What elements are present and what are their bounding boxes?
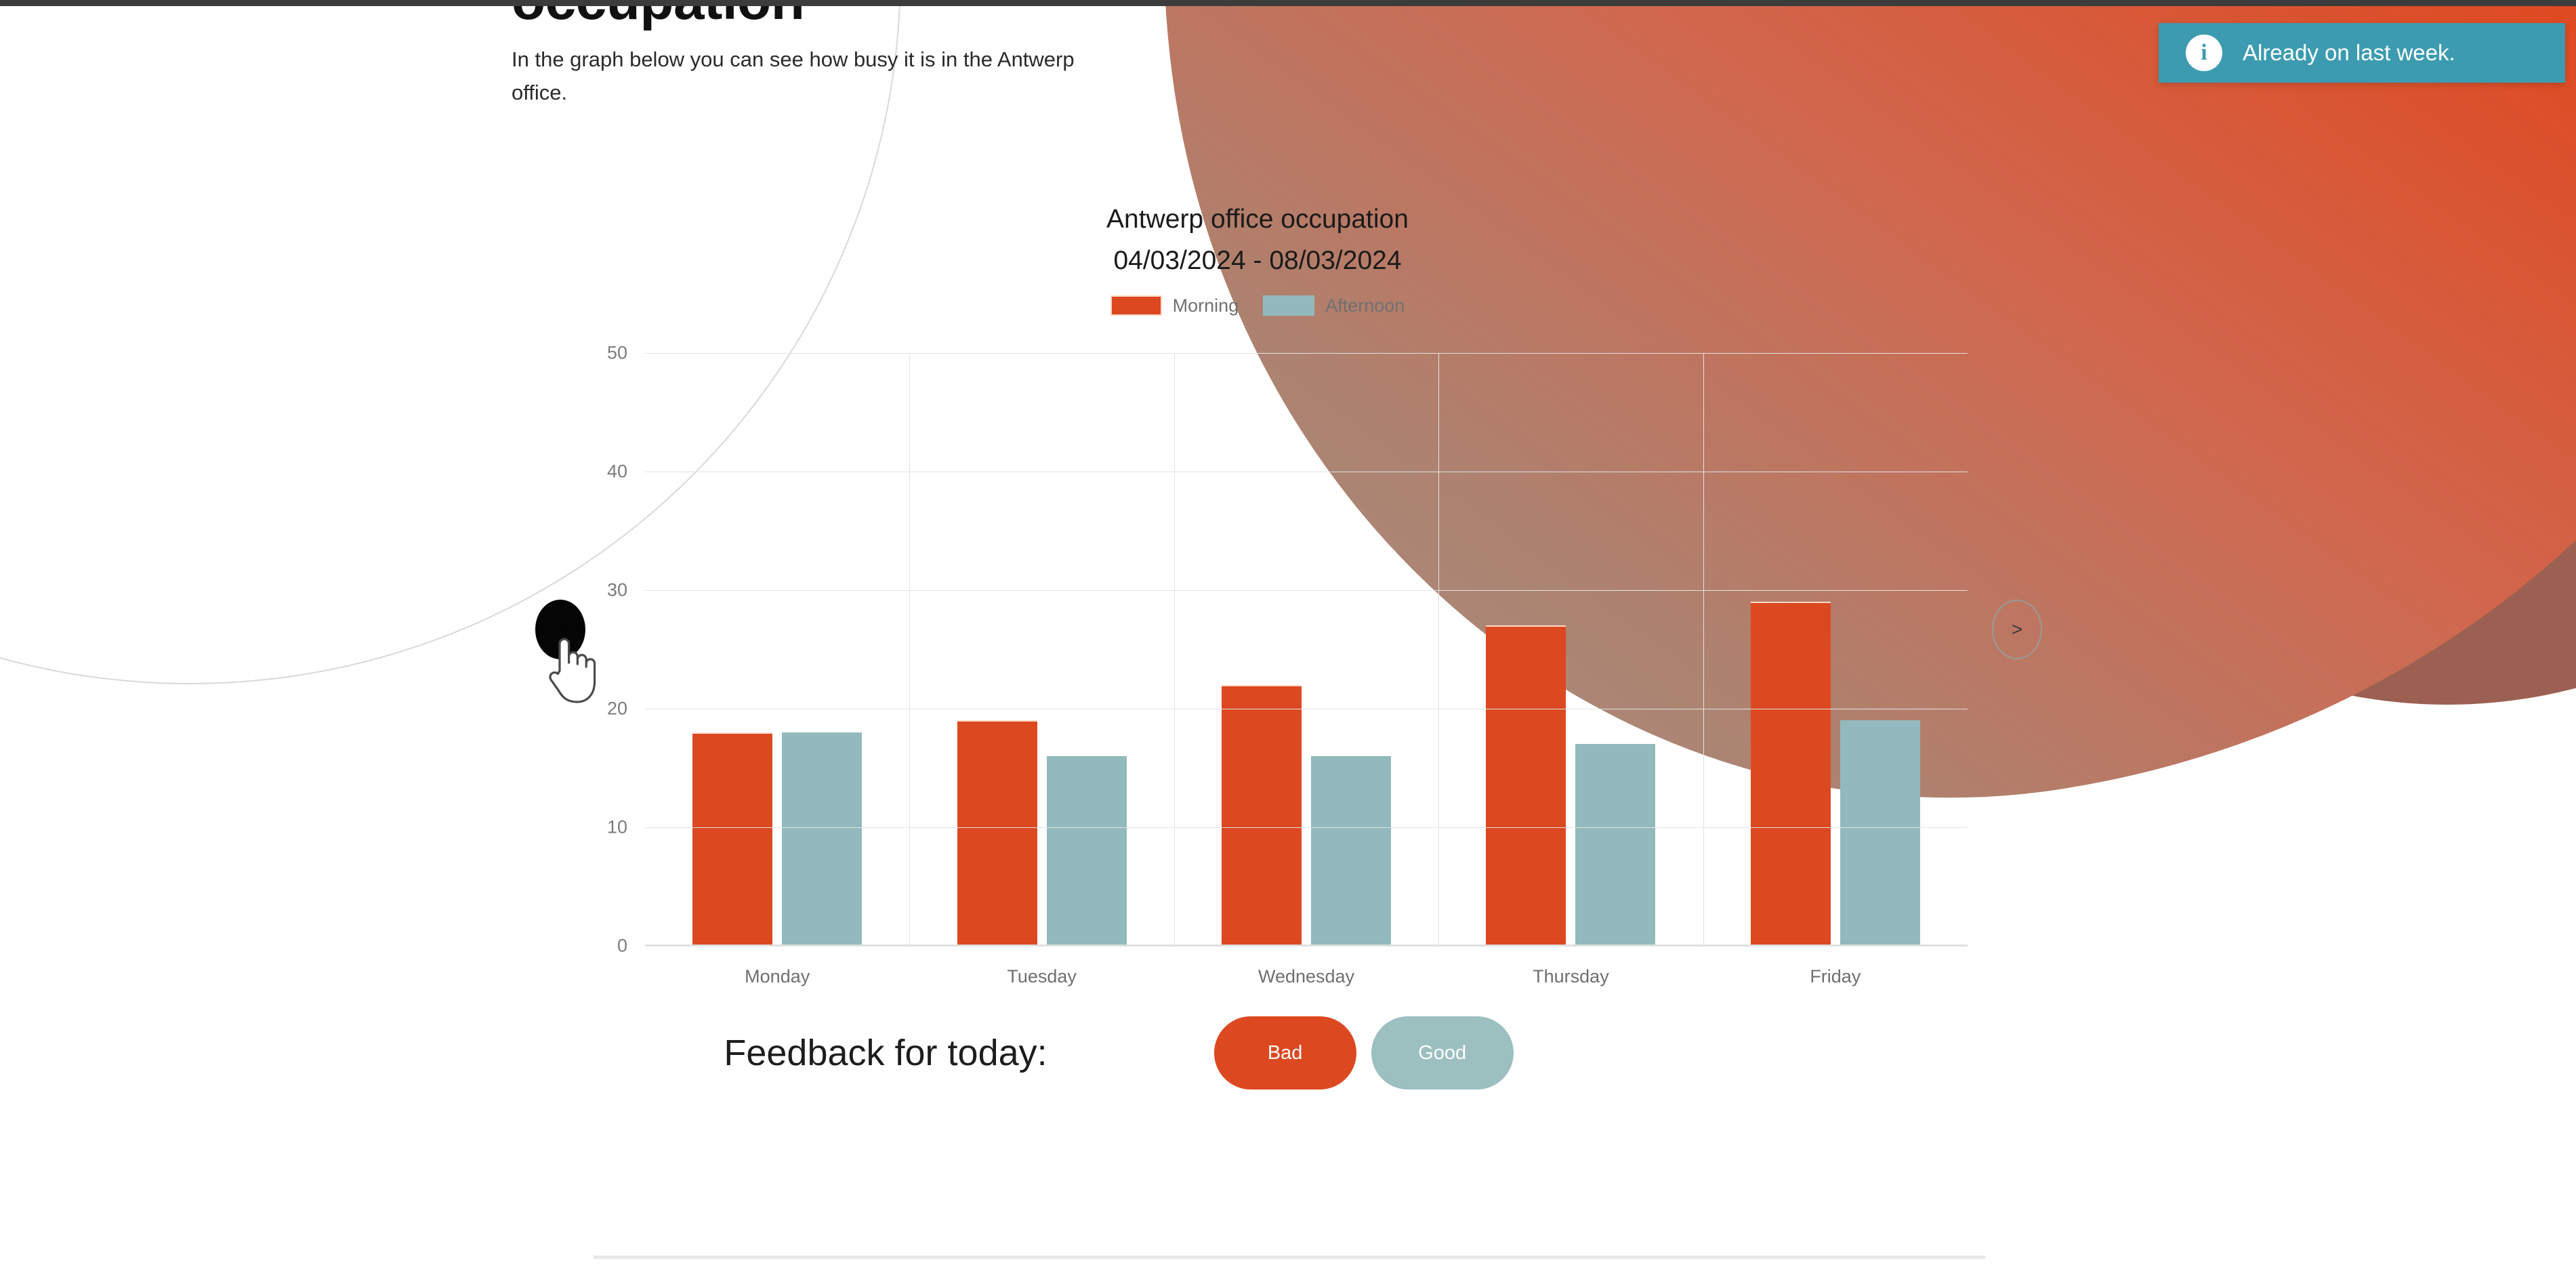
toast-notification[interactable]: i Already on last week. — [2159, 23, 2565, 83]
browser-chrome-bar — [0, 0, 2576, 6]
gridline-horizontal — [645, 590, 1968, 591]
legend-item[interactable]: Afternoon — [1263, 295, 1405, 316]
chart-legend: MorningAfternoon — [0, 295, 2576, 316]
y-axis-tick: 0 — [617, 935, 645, 956]
plot-outer: MondayTuesdayWednesdayThursdayFriday 010… — [0, 341, 2576, 1018]
bar-group: Monday — [645, 353, 909, 946]
bar-morning-monday[interactable] — [692, 732, 772, 946]
feedback-section: Feedback for today: Bad Good — [0, 1016, 2407, 1090]
feedback-bad-button[interactable]: Bad — [1214, 1016, 1356, 1090]
bar-group: Tuesday — [909, 353, 1173, 946]
feedback-label: Feedback for today: — [724, 1032, 1047, 1074]
bar-morning-thursday[interactable] — [1486, 625, 1566, 946]
legend-swatch-afternoon — [1263, 295, 1314, 316]
bar-morning-friday[interactable] — [1751, 602, 1831, 946]
gridline-vertical — [1174, 353, 1175, 946]
y-axis-tick: 20 — [607, 698, 645, 719]
chart-date-range: 04/03/2024 - 08/03/2024 — [0, 245, 2576, 278]
y-axis-tick: 30 — [607, 579, 645, 600]
bar-afternoon-wednesday[interactable] — [1311, 756, 1391, 946]
x-axis-tick: Wednesday — [1174, 966, 1438, 987]
plot-area: MondayTuesdayWednesdayThursdayFriday 010… — [645, 353, 1968, 946]
gridline-horizontal — [645, 472, 1968, 472]
feedback-buttons: Bad Good — [1214, 1016, 1514, 1090]
chart-title: Antwerp office occupation — [0, 203, 2576, 236]
next-week-button[interactable]: > — [1992, 600, 2042, 659]
gridline-vertical — [909, 353, 910, 946]
bar-morning-wednesday[interactable] — [1222, 685, 1302, 946]
previous-week-button[interactable]: < — [535, 600, 585, 659]
toast-message: Already on last week. — [2243, 40, 2455, 66]
bar-group: Wednesday — [1174, 353, 1438, 946]
page-subtitle: In the graph below you can see how busy … — [512, 43, 1121, 110]
y-axis-tick: 40 — [607, 461, 645, 482]
gridline-horizontal — [645, 353, 1968, 354]
x-axis-tick: Monday — [645, 966, 909, 987]
chart-container: Antwerp office occupation 04/03/2024 - 0… — [0, 203, 2576, 1018]
bar-group: Thursday — [1438, 353, 1703, 946]
feedback-good-button[interactable]: Good — [1371, 1016, 1514, 1090]
legend-item[interactable]: Morning — [1110, 295, 1239, 316]
x-axis-tick: Friday — [1703, 966, 1968, 987]
gridline-horizontal — [645, 709, 1968, 709]
x-axis-tick: Thursday — [1438, 966, 1703, 987]
legend-swatch-morning — [1110, 295, 1162, 316]
bar-groups: MondayTuesdayWednesdayThursdayFriday — [645, 353, 1968, 946]
x-axis-tick: Tuesday — [909, 966, 1173, 987]
y-axis-tick: 10 — [607, 816, 645, 837]
gridline-horizontal — [645, 827, 1968, 828]
y-axis-tick: 50 — [607, 342, 645, 363]
bar-morning-tuesday[interactable] — [957, 720, 1037, 946]
gridline-vertical — [1438, 353, 1439, 946]
chevron-left-icon: < — [555, 619, 566, 640]
app-root: occupation In the graph below you can se… — [0, 0, 2576, 1265]
bar-afternoon-monday[interactable] — [782, 732, 862, 946]
bar-group: Friday — [1703, 353, 1968, 946]
bottom-divider — [594, 1256, 1985, 1259]
gridline-horizontal — [645, 946, 1968, 947]
bar-afternoon-tuesday[interactable] — [1047, 756, 1127, 946]
bar-afternoon-thursday[interactable] — [1575, 744, 1655, 946]
info-icon: i — [2186, 35, 2222, 71]
bar-afternoon-friday[interactable] — [1840, 720, 1920, 946]
chevron-right-icon: > — [2012, 619, 2022, 640]
legend-label: Morning — [1173, 295, 1239, 316]
legend-label: Afternoon — [1325, 295, 1405, 316]
gridline-vertical — [1703, 353, 1704, 946]
page-header: occupation In the graph below you can se… — [512, 0, 1155, 110]
